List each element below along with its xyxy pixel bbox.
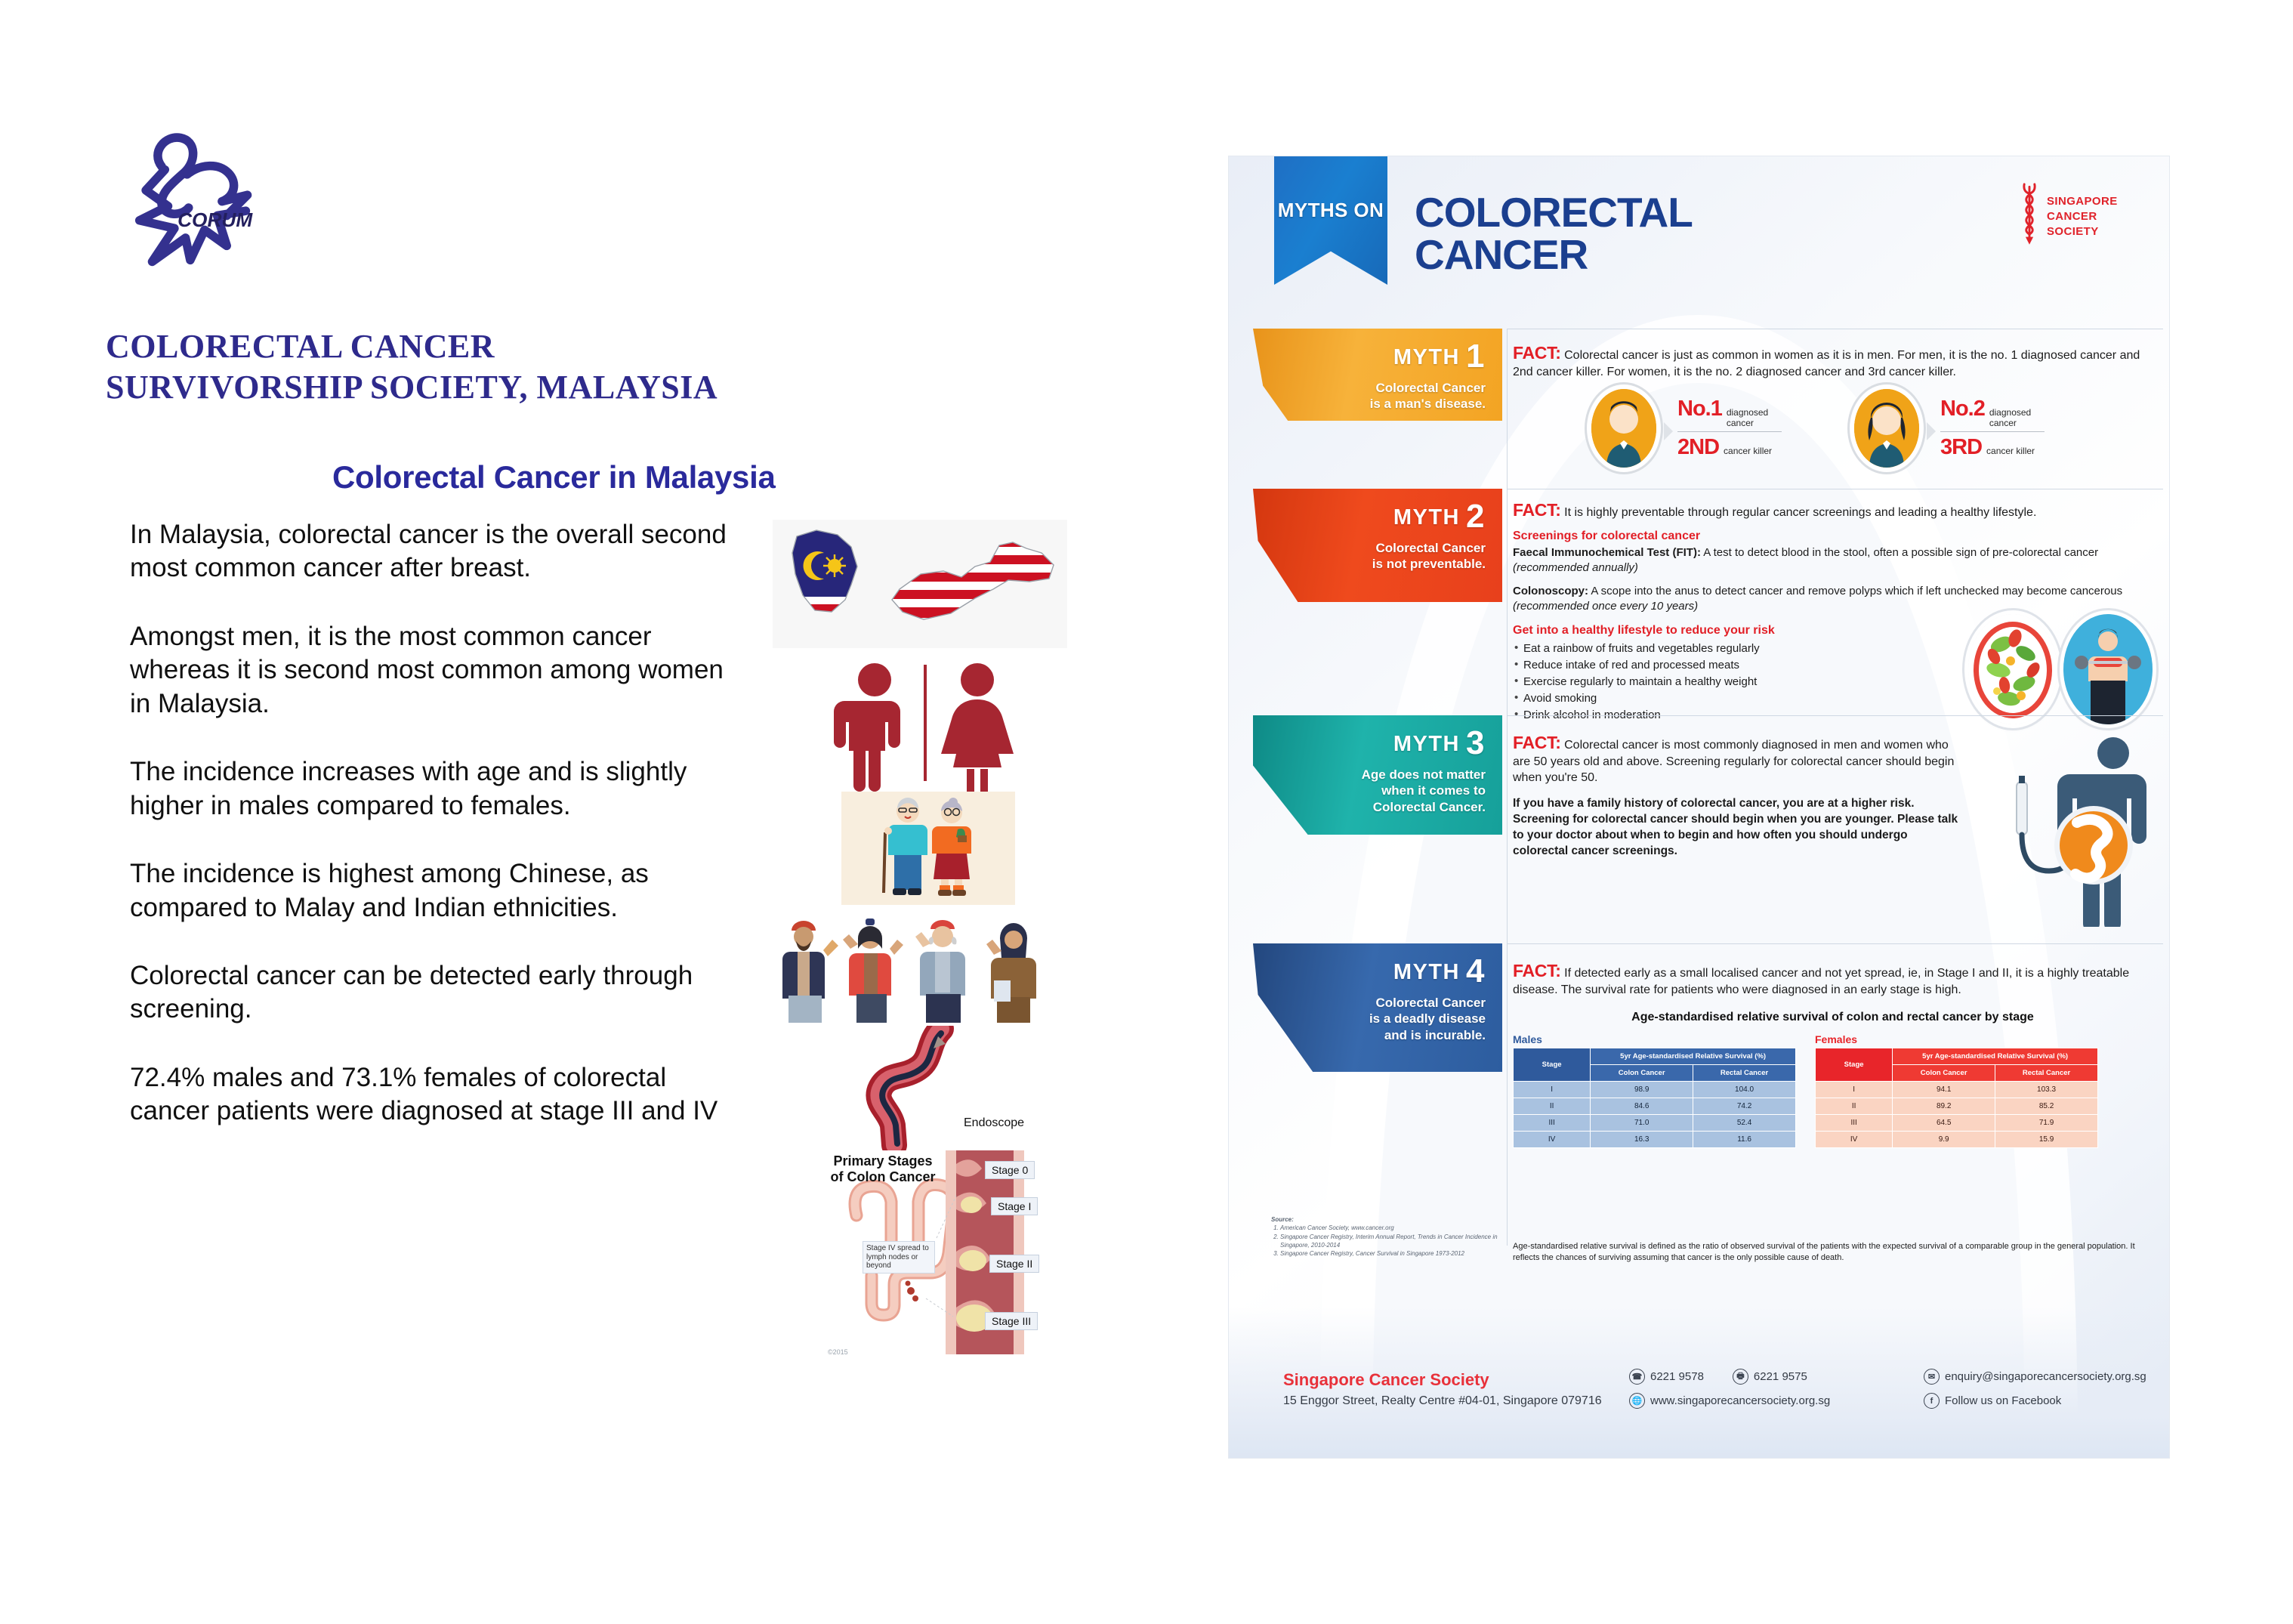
myth-1-banner: MYTH1 Colorectal Cancer is a man's disea… [1253,329,1502,421]
fax-icon: 🖶 [1733,1369,1748,1385]
myth-1-number: 1 [1466,338,1486,375]
table-row: III 71.0 52.4 [1514,1114,1796,1131]
myth-4-divider [1507,943,2163,944]
corum-logo: CORUM [128,128,287,287]
males-rectal-header: Rectal Cancer [1693,1064,1796,1081]
females-survival-table-wrap: Females Stage 5yr Age-standardised Relat… [1815,1033,2098,1148]
myth-4-fact: FACT: If detected early as a small local… [1513,960,2153,999]
myth-2-number: 2 [1466,498,1486,535]
endoscope-label: Endoscope [964,1116,1024,1130]
myth-1-label: MYTH [1393,345,1460,369]
myth-4-subtitle-line2: is a deadly disease [1253,1011,1486,1027]
paragraph-5: Colorectal cancer can be detected early … [130,959,734,1027]
ethnic-diversity-image [778,905,1065,1026]
table-row: I 94.1 103.3 [1816,1081,2098,1098]
myth-1-fact: FACT: Colorectal cancer is just as commo… [1513,342,2153,381]
source-item-1: American Cancer Society, www.cancer.org [1280,1224,1498,1232]
table-row: IV 16.3 11.6 [1514,1131,1796,1147]
colorectal-cancer-poster: MYTHS ON COLORECTAL CANCER SINGAPORE CAN… [1229,156,2169,1458]
myth-3-fact: FACT: Colorectal cancer is most commonly… [1513,732,1964,786]
poster-title-line1: COLORECTAL [1415,191,1838,233]
org-title-line1: COLORECTAL CANCER [106,326,937,367]
stage-tag-1: Stage I [991,1197,1038,1215]
exercise-image [2063,614,2153,724]
stage-tag-0: Stage 0 [985,1161,1035,1179]
poster-footer: Singapore Cancer Society 15 Enggor Stree… [1229,1307,2169,1458]
footer-phone: 6221 9578 [1650,1370,1704,1383]
scs-logo-line2: CANCER [2047,209,2118,224]
myth-3-divider [1507,715,2163,716]
fit-text: A test to detect blood in the stool, oft… [1701,546,2098,559]
females-rectal-header: Rectal Cancer [1995,1064,2098,1081]
myth-3-subtitle: Age does not matter when it comes to Col… [1253,767,1486,815]
stages-credit: ©2015 [828,1348,848,1356]
myth-2-subtitle-line2: is not preventable. [1253,556,1486,572]
table-row: II 84.6 74.2 [1514,1098,1796,1114]
endoscope-diagram-image: Endoscope [828,1026,1054,1150]
paragraph-2: Amongst men, it is the most common cance… [130,620,734,721]
stages-title: Primary Stages of Colon Cancer [826,1153,940,1184]
myth-2-heading: MYTH2 [1253,498,1486,536]
myth-1-subtitle: Colorectal Cancer is a man's disease. [1253,380,1486,412]
colonoscopy-frequency: (recommended once every 10 years) [1513,600,1698,613]
myth-1-fact-text: Colorectal cancer is just as common in w… [1513,349,2140,378]
myths-on-ribbon: MYTHS ON [1274,156,1387,285]
person-hijab-woman-figure [986,923,1036,1023]
myth-2-subtitle: Colorectal Cancer is not preventable. [1253,540,1486,573]
footer-email[interactable]: enquiry@singaporecancersociety.org.sg [1945,1370,2146,1383]
fit-frequency: (recommended annually) [1513,561,1638,574]
scs-logo-line3: SOCIETY [2047,224,2118,239]
elderly-couple-image [841,792,1015,905]
footer-facebook-row[interactable]: f Follow us on Facebook [1924,1393,2146,1409]
corum-logo-text: CORUM [177,208,253,231]
footer-website[interactable]: www.singaporecancersociety.org.sg [1650,1394,1830,1407]
stage-iv-note: Stage IV spread to lymph nodes or beyond [863,1241,935,1274]
table-row: II 89.2 85.2 [1816,1098,2098,1114]
source-title: Source: [1271,1215,1498,1224]
body-text: In Malaysia, colorectal cancer is the ov… [130,518,734,1163]
females-table-label: Females [1815,1033,2098,1045]
myth-1-divider [1507,329,2163,329]
myth-1-vertical-rule [1507,329,1508,489]
myth-2-fact-text: It is highly preventable through regular… [1564,506,2036,519]
facebook-icon: f [1924,1393,1940,1409]
paragraph-6: 72.4% males and 73.1% females of colorec… [130,1061,734,1128]
female-avatar-icon [1854,389,1919,468]
myth-1-male-stat: No.1 diagnosed cancer 2ND cancer killer [1591,389,1782,468]
myth-4-row: MYTH4 Colorectal Cancer is a deadly dise… [1229,943,2169,1298]
myth-4-label: MYTH [1393,960,1460,984]
myth-4-subtitle-line1: Colorectal Cancer [1253,995,1486,1011]
myth-2-subtitle-line1: Colorectal Cancer [1253,540,1486,556]
colonoscopy-text: A scope into the anus to detect cancer a… [1588,585,2122,597]
divider-line [924,665,927,781]
females-colon-header: Colon Cancer [1893,1064,1995,1081]
figure-strip: Endoscope [769,520,1071,1354]
lifestyle-tips-list: Eat a rainbow of fruits and vegetables r… [1513,641,2153,723]
males-table-label: Males [1513,1033,1796,1045]
myth-2-label: MYTH [1393,505,1460,529]
myth-3-subtitle-line2: when it comes to [1253,783,1486,798]
myth-4-body: FACT: If detected early as a small local… [1513,960,2153,1154]
caduceus-icon [2017,179,2042,249]
footer-contact-column-2: ✉ enquiry@singaporecancersociety.org.sg … [1924,1369,2146,1417]
myth-4-banner: MYTH4 Colorectal Cancer is a deadly dise… [1253,943,1502,1072]
left-column: CORUM COLORECTAL CANCER SURVIVORSHIP SOC… [0,0,1208,1624]
females-survival-table: Stage 5yr Age-standardised Relative Surv… [1815,1048,2098,1148]
lifestyle-tip-4: Avoid smoking [1513,690,2153,707]
myth-2-fact-word: FACT: [1513,500,1561,520]
fit-label: Faecal Immunochemical Test (FIT): [1513,546,1701,559]
male-figure-icon [834,663,900,792]
paragraph-1: In Malaysia, colorectal cancer is the ov… [130,518,734,585]
male-killer-caption: cancer killer [1724,446,1772,457]
myth-3-heading: MYTH3 [1253,724,1486,762]
stage-tag-2: Stage II [989,1255,1039,1273]
table-row: I 98.9 104.0 [1514,1081,1796,1098]
myth-1-male-rank: No.1 diagnosed cancer 2ND cancer killer [1664,397,1782,460]
phone-icon: ☎ [1629,1369,1645,1385]
person-western-figure [915,920,965,1023]
myth-3-number: 3 [1466,724,1486,761]
survival-definition-note: Age-standardised relative survival is de… [1513,1241,2149,1264]
stage-tag-3: Stage III [985,1312,1038,1330]
poster-title-line2: CANCER [1415,233,1838,276]
myth-2-fact: FACT: It is highly preventable through r… [1513,499,2153,522]
myth-4-fact-text: If detected early as a small localised c… [1513,967,2129,996]
myth-1-subtitle-line1: Colorectal Cancer [1253,380,1486,396]
myth-1-subtitle-line2: is a man's disease. [1253,396,1486,412]
colonoscopy-label: Colonoscopy: [1513,585,1588,597]
myth-3-family-history-text: If you have a family history of colorect… [1513,796,1964,859]
females-span-header: 5yr Age-standardised Relative Survival (… [1893,1048,2098,1064]
globe-icon: 🌐 [1629,1393,1645,1409]
myth-3-fact-word: FACT: [1513,733,1561,752]
footer-email-row[interactable]: ✉ enquiry@singaporecancersociety.org.sg [1924,1369,2146,1385]
myth-4-vertical-rule [1507,943,1508,1246]
scs-logo-line1: SINGAPORE [2047,194,2118,209]
org-title: COLORECTAL CANCER SURVIVORSHIP SOCIETY, … [106,326,937,407]
gender-icons-image [790,648,1062,792]
myth-1-row: MYTH1 Colorectal Cancer is a man's disea… [1229,329,2169,489]
salad-bowl-image [1968,614,2057,724]
males-span-header: 5yr Age-standardised Relative Survival (… [1591,1048,1796,1064]
myth-1-female-stat: No.2 diagnosed cancer 3RD cancer killer [1854,389,2045,468]
table-row: III 64.5 71.9 [1816,1114,2098,1131]
myth-1-body: FACT: Colorectal cancer is just as commo… [1513,342,2153,381]
female-killer-rank: 3RD [1940,435,1982,460]
survival-table-title: Age-standardised relative survival of co… [1513,1011,2153,1024]
lifestyle-heading: Get into a healthy lifestyle to reduce y… [1513,624,2153,638]
male-avatar-icon [1591,389,1656,468]
male-rank-number: No.1 [1677,397,1722,421]
myth-3-fact-text: Colorectal cancer is most commonly diagn… [1513,739,1954,784]
footer-fax: 6221 9575 [1754,1370,1807,1383]
males-survival-table-wrap: Males Stage 5yr Age-standardised Relativ… [1513,1033,1796,1148]
singapore-cancer-society-logo: SINGAPORE CANCER SOCIETY [2017,178,2130,250]
myth-2-row: MYTH2 Colorectal Cancer is not preventab… [1229,489,2169,715]
myth-4-fact-word: FACT: [1513,961,1561,980]
myth-3-banner: MYTH3 Age does not matter when it comes … [1253,715,1502,835]
myth-3-row: MYTH3 Age does not matter when it comes … [1229,715,2169,943]
source-citations: Source: American Cancer Society, www.can… [1271,1215,1498,1258]
myth-3-illustration [1994,732,2168,927]
female-figure-icon [941,663,1014,792]
footer-phone-row: ☎ 6221 9578 🖶 6221 9575 [1629,1369,1830,1385]
source-item-3: Singapore Cancer Registry, Cancer Surviv… [1280,1249,1498,1258]
malaysia-flag-map-image [773,520,1067,648]
source-item-2: Singapore Cancer Registry, Interim Annua… [1280,1233,1498,1250]
lifestyle-tip-1: Eat a rainbow of fruits and vegetables r… [1513,641,2153,657]
myth-4-subtitle: Colorectal Cancer is a deadly disease an… [1253,995,1486,1043]
footer-facebook[interactable]: Follow us on Facebook [1945,1394,2061,1407]
footer-contact-column-1: ☎ 6221 9578 🖶 6221 9575 🌐 www.singaporec… [1629,1369,1830,1417]
myth-3-subtitle-line1: Age does not matter [1253,767,1486,783]
myth-4-subtitle-line3: and is incurable. [1253,1027,1486,1043]
section-heading: Colorectal Cancer in Malaysia [332,459,906,496]
myths-on-label: MYTHS ON [1278,199,1384,222]
myth-2-vertical-rule [1507,489,1508,715]
paragraph-3: The incidence increases with age and is … [130,755,734,823]
myth-1-heading: MYTH1 [1253,338,1486,375]
footer-address: 15 Enggor Street, Realty Centre #04-01, … [1283,1394,1602,1408]
myth-2-divider [1507,489,2163,489]
myth-4-number: 4 [1466,952,1486,990]
footer-website-row[interactable]: 🌐 www.singaporecancersociety.org.sg [1629,1393,1830,1409]
colon-badge-icon [2054,806,2133,885]
females-stage-header: Stage [1816,1048,1893,1081]
envelope-icon: ✉ [1924,1369,1940,1385]
table-row: IV 9.9 15.9 [1816,1131,2098,1147]
colon-cancer-stages-image: Primary Stages of Colon Cancer Stage 0 S… [823,1150,1057,1354]
person-sikh-figure [782,921,838,1023]
female-killer-caption: cancer killer [1986,446,2035,457]
males-survival-table: Stage 5yr Age-standardised Relative Surv… [1513,1048,1796,1148]
myth-4-heading: MYTH4 [1253,952,1486,990]
males-stage-header: Stage [1514,1048,1591,1081]
myth-3-subtitle-line3: Colorectal Cancer. [1253,799,1486,815]
fit-paragraph: Faecal Immunochemical Test (FIT): A test… [1513,545,2153,576]
colonoscopy-paragraph: Colonoscopy: A scope into the anus to de… [1513,584,2153,614]
myth-2-banner: MYTH2 Colorectal Cancer is not preventab… [1253,489,1502,602]
org-title-line2: SURVIVORSHIP SOCIETY, MALAYSIA [106,367,937,408]
myth-2-body: FACT: It is highly preventable through r… [1513,499,2153,724]
poster-title: COLORECTAL CANCER [1415,191,1838,276]
myth-3-vertical-rule [1507,715,1508,943]
males-colon-header: Colon Cancer [1591,1064,1693,1081]
female-rank-caption: diagnosed cancer [1989,408,2031,428]
female-rank-number: No.2 [1940,397,1985,421]
male-rank-caption: diagnosed cancer [1727,408,1768,428]
male-rank-divider [1677,431,1782,432]
myth-3-label: MYTH [1393,732,1460,756]
poster-header: MYTHS ON COLORECTAL CANCER SINGAPORE CAN… [1229,156,2169,326]
person-chinese-woman-figure [843,919,903,1023]
male-killer-rank: 2ND [1677,435,1719,460]
paragraph-4: The incidence is highest among Chinese, … [130,857,734,925]
footer-org-name: Singapore Cancer Society [1283,1370,1489,1390]
female-rank-divider [1940,431,2045,432]
scs-logo-words: SINGAPORE CANCER SOCIETY [2047,194,2118,239]
myth-1-fact-word: FACT: [1513,343,1561,363]
screenings-heading: Screenings for colorectal cancer [1513,529,2153,543]
myth-1-female-rank: No.2 diagnosed cancer 3RD cancer killer [1927,397,2045,460]
